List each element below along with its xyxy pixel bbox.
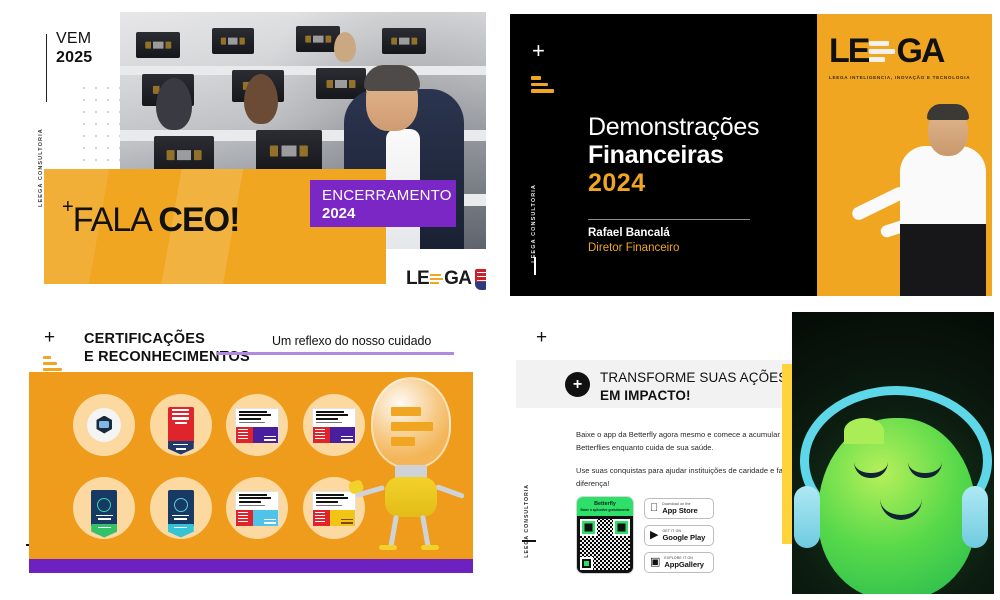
destaque-icon <box>168 490 194 526</box>
mascot-foot-left <box>379 545 397 550</box>
certification-item <box>69 469 140 546</box>
slide1-tag-line2: 2024 <box>322 205 355 222</box>
slide2-wall-logo-left: LE <box>829 32 868 71</box>
google-play-button[interactable]: ▶ GET IT ON Google Play <box>644 525 714 546</box>
certification-item <box>146 469 217 546</box>
badge-melhores-empresas-jornada-mental-2023 <box>226 477 288 539</box>
app-store-label: App Store <box>662 507 697 515</box>
slide1-title-plus: + <box>62 196 73 218</box>
melhores-empresas-icon <box>312 408 356 442</box>
plus-icon: + <box>536 328 547 347</box>
app-store-button[interactable]:  Download on the App Store <box>644 498 714 519</box>
destaque-icon <box>91 490 117 526</box>
leega-bars-icon <box>391 407 433 446</box>
plus-icon: + <box>44 328 55 347</box>
slide4-app-artwork <box>792 312 994 594</box>
slide1-title-word1: FALA <box>73 201 159 239</box>
slide2-title-year: 2024 <box>588 169 759 198</box>
slide2-rule <box>534 257 536 275</box>
slide-4-transforme-suas-acoes[interactable]: + LEEGA CONSULTORIA + TRANSFORME SUAS AÇ… <box>508 312 994 594</box>
slide2-wall-tagline: LEEGA INTELIGENCIA, INOVAÇÃO E TECNOLOGI… <box>829 75 970 80</box>
certification-item <box>69 386 140 463</box>
plus-icon: + <box>532 40 545 62</box>
slide2-wall-wordmark: LE GA <box>829 32 970 71</box>
slide1-encerramento-tag: ENCERRAMENTO 2024 <box>310 180 456 227</box>
play-triangle-icon: ▶ <box>650 530 658 541</box>
mascot-tuft <box>844 418 884 444</box>
betterfly-qr-code[interactable]: Betterfly Baixe o aplicativo gratuitamen… <box>576 496 634 574</box>
app-store-badges:  Download on the App Store ▶ GET IT ON … <box>644 498 714 573</box>
headphone-earcup-right <box>962 486 988 548</box>
slide4-rule <box>522 540 536 542</box>
leega-bars-icon <box>531 76 554 93</box>
slide2-speaker-name: Rafael Bancalá <box>588 227 670 239</box>
slide2-vertical-brand: LEEGA CONSULTORIA <box>531 184 537 263</box>
app-gallery-label: AppGallery <box>664 561 704 569</box>
badge-bale-de-feedback <box>73 394 135 456</box>
leega-bars-icon <box>869 41 895 62</box>
slide3-subtitle-underline <box>217 352 454 355</box>
slide3-purple-footer-bar <box>29 559 473 573</box>
leega-logo: LE GA <box>406 268 486 290</box>
badge-destaque-saude-emocional-2023 <box>73 477 135 539</box>
slide1-tag-line1: ENCERRAMENTO <box>322 187 452 204</box>
slide2-speaker-role: Diretor Financeiro <box>588 242 679 254</box>
feedback-seal-icon <box>87 408 121 442</box>
appgallery-icon: ▣ <box>650 557 660 568</box>
slide4-title-line1: TRANSFORME SUAS AÇÕES <box>600 369 787 387</box>
badge-melhores-empresas-ti-2023 <box>226 394 288 456</box>
slide3-heading: CERTIFICAÇÕES E RECONHECIMENTOS <box>84 330 250 366</box>
app-gallery-button[interactable]: ▣ EXPLORE IT ON AppGallery <box>644 552 714 573</box>
qr-header: Betterfly Baixe o aplicativo gratuitamen… <box>577 497 633 516</box>
slide4-vertical-brand: LEEGA CONSULTORIA <box>524 484 530 558</box>
slide-1-fala-ceo[interactable]: VEM 2025 LEEGA CONSULTORIA <box>16 12 486 297</box>
qr-subtitle: Baixe o aplicativo gratuitamente <box>581 508 630 512</box>
slide4-title-line2: EM IMPACTO! <box>600 387 787 405</box>
mascot-arm-right <box>435 484 465 499</box>
mascot-body <box>385 477 437 517</box>
slide1-ceo-hair <box>364 65 420 91</box>
badge-destaque-saude-mental-2024 <box>150 477 212 539</box>
slide1-rule-top <box>46 34 47 102</box>
certification-badge-grid <box>69 386 369 546</box>
certification-item <box>222 386 293 463</box>
slide3-heading-line2: E RECONHECIMENTOS <box>84 348 250 366</box>
slide1-eyebrow-line2: 2025 <box>56 49 92 68</box>
qr-body <box>577 516 633 573</box>
slide1-eyebrow: VEM 2025 <box>56 30 92 68</box>
slide2-photo-panel: LE GA LEEGA INTELIGENCIA, INOVAÇÃO E TEC… <box>817 14 992 296</box>
qr-code-icon <box>580 519 630 570</box>
leega-logo-text-right: GA <box>444 268 471 290</box>
google-play-label: Google Play <box>662 534 705 542</box>
slide3-subtitle: Um reflexo do nosso cuidado <box>272 334 431 348</box>
qr-title: Betterfly <box>594 501 616 507</box>
slide3-orange-panel <box>29 372 473 559</box>
slide2-wall-logo-right: GA <box>896 32 943 71</box>
melhores-empresas-icon <box>235 491 279 525</box>
slide-3-certificacoes[interactable]: + CERTIFICAÇÕES E RECONHECIMENTOS Um ref… <box>10 312 495 594</box>
gptw-badge-icon <box>475 269 486 290</box>
headphone-earcup-left <box>794 486 820 548</box>
slide2-person-body <box>900 146 986 296</box>
leega-bars-icon <box>430 274 443 285</box>
slide1-title-word2: CEO! <box>158 201 239 239</box>
mascot-bulb-glass <box>371 377 451 469</box>
slide2-title-line2: Financeiras <box>588 142 759 170</box>
slide1-eyebrow-line1: VEM <box>56 30 91 47</box>
lightbulb-mascot <box>351 377 467 555</box>
slide1-title: +FALA CEO! <box>62 197 239 237</box>
slide2-title-line1: Demonstrações <box>588 114 759 142</box>
slide2-divider <box>588 219 750 220</box>
certification-item <box>146 386 217 463</box>
melhores-empresas-icon <box>235 408 279 442</box>
slide-thumbnail-grid: VEM 2025 LEEGA CONSULTORIA <box>0 0 1000 600</box>
gptw-certified-icon <box>168 407 194 443</box>
slide3-heading-line1: CERTIFICAÇÕES <box>84 330 250 348</box>
slide2-title: Demonstrações Financeiras 2024 <box>588 114 759 198</box>
leega-logo-text-left: LE <box>406 268 429 290</box>
slide4-paragraph-2: Use suas conquistas para ajudar institui… <box>576 464 802 491</box>
slide2-person-hair <box>927 104 969 120</box>
apple-icon:  <box>650 503 658 514</box>
plus-badge-icon: + <box>565 372 590 397</box>
certification-item <box>222 469 293 546</box>
slide2-wall-logo: LE GA LEEGA INTELIGENCIA, INOVAÇÃO E TEC… <box>829 32 970 80</box>
slide-2-demonstracoes-financeiras[interactable]: + LEEGA CONSULTORIA Demonstrações Financ… <box>510 14 992 296</box>
melhores-empresas-icon <box>312 491 356 525</box>
slide4-paragraph-1: Baixe o app da Betterfly agora mesmo e c… <box>576 428 802 455</box>
mascot-foot-right <box>421 545 439 550</box>
slide4-title: TRANSFORME SUAS AÇÕES EM IMPACTO! <box>600 369 787 404</box>
leega-bars-icon <box>43 356 62 371</box>
slide4-yellow-accent-bar <box>782 364 792 544</box>
leega-logo-wordmark: LE GA <box>406 268 471 290</box>
badge-great-place-to-work <box>150 394 212 456</box>
